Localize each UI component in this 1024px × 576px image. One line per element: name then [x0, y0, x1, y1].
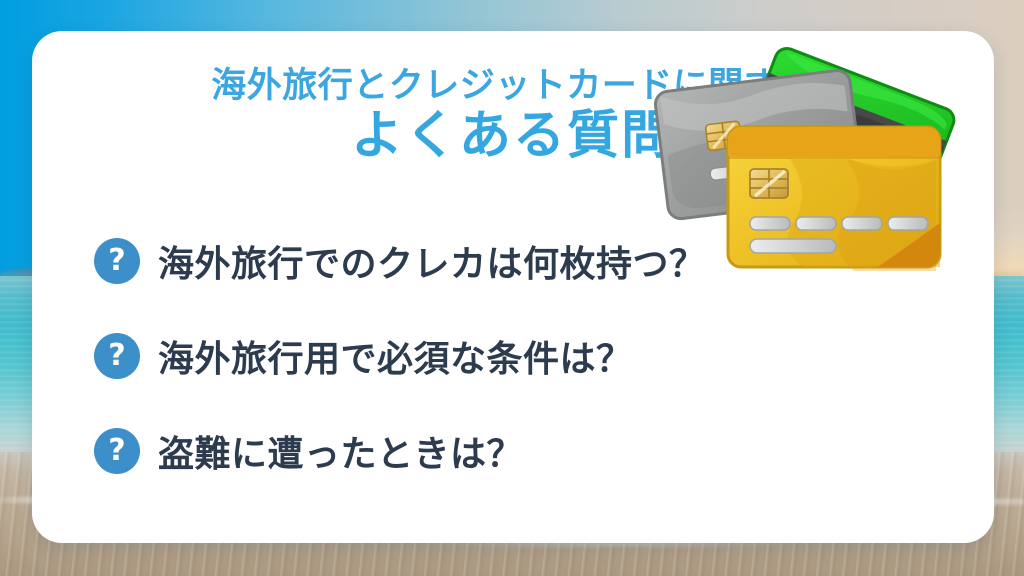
- title-line-1: 海外旅行とクレジットカードに関する: [32, 67, 994, 106]
- faq-item-3[interactable]: ? 盗難に遭ったときは？: [94, 403, 854, 498]
- title-line-2: よくある質問: [32, 107, 994, 165]
- faq-question-2: 海外旅行用で必須な条件は？: [158, 330, 633, 382]
- title-block: 海外旅行とクレジットカードに関する よくある質問: [32, 67, 994, 165]
- faq-item-2[interactable]: ? 海外旅行用で必須な条件は？: [94, 308, 854, 403]
- question-mark-icon: ?: [94, 238, 140, 284]
- question-mark-icon: ?: [94, 333, 140, 379]
- question-mark-icon: ?: [94, 428, 140, 474]
- faq-list: ? 海外旅行でのクレカは何枚持つ？ ? 海外旅行用で必須な条件は？ ? 盗難に遭…: [94, 213, 854, 498]
- faq-item-1[interactable]: ? 海外旅行でのクレカは何枚持つ？: [94, 213, 854, 308]
- slide-canvas: 海外旅行とクレジットカードに関する よくある質問 ? 海外旅行でのクレカは何枚持…: [0, 0, 1024, 576]
- faq-question-3: 盗難に遭ったときは？: [158, 425, 523, 477]
- gold-card-chip: [750, 169, 788, 198]
- faq-question-1: 海外旅行でのクレカは何枚持つ？: [158, 235, 706, 287]
- content-card: 海外旅行とクレジットカードに関する よくある質問 ? 海外旅行でのクレカは何枚持…: [32, 31, 994, 543]
